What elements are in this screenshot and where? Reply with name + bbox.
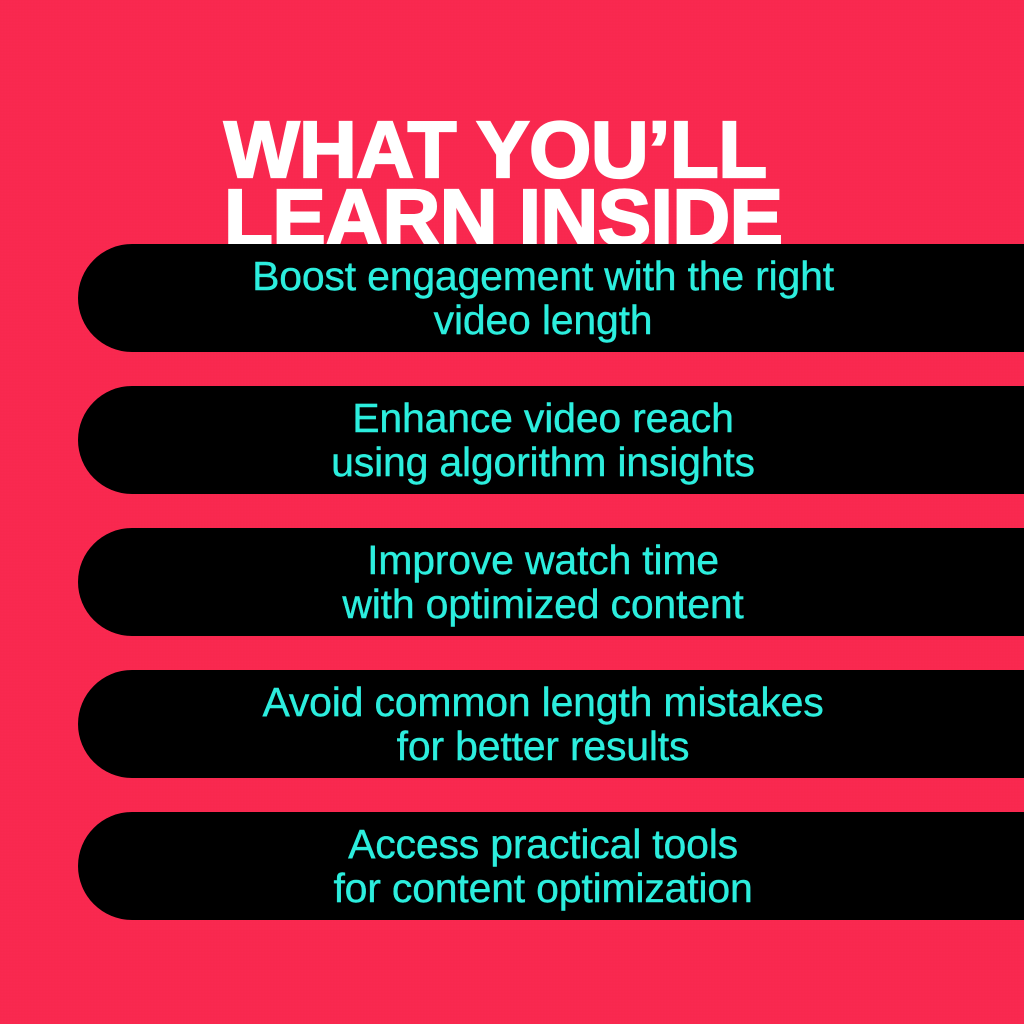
list-item-label: Boost engagement with the right video le… <box>140 254 946 343</box>
list-item-label: Avoid common length mistakes for better … <box>140 680 946 769</box>
list-item: Avoid common length mistakes for better … <box>78 670 1024 778</box>
promo-graphic: WHAT YOU’LL LEARN INSIDE Boost engagemen… <box>0 0 1024 1024</box>
list-item-label: Access practical tools for content optim… <box>140 822 946 911</box>
list-item: Boost engagement with the right video le… <box>78 244 1024 352</box>
list-item: Enhance video reach using algorithm insi… <box>78 386 1024 494</box>
benefits-list: Boost engagement with the right video le… <box>0 244 1024 920</box>
list-item-label: Improve watch time with optimized conten… <box>140 538 946 627</box>
list-item: Improve watch time with optimized conten… <box>78 528 1024 636</box>
list-item: Access practical tools for content optim… <box>78 812 1024 920</box>
list-item-label: Enhance video reach using algorithm insi… <box>140 396 946 485</box>
page-title: WHAT YOU’LL LEARN INSIDE <box>224 116 984 254</box>
